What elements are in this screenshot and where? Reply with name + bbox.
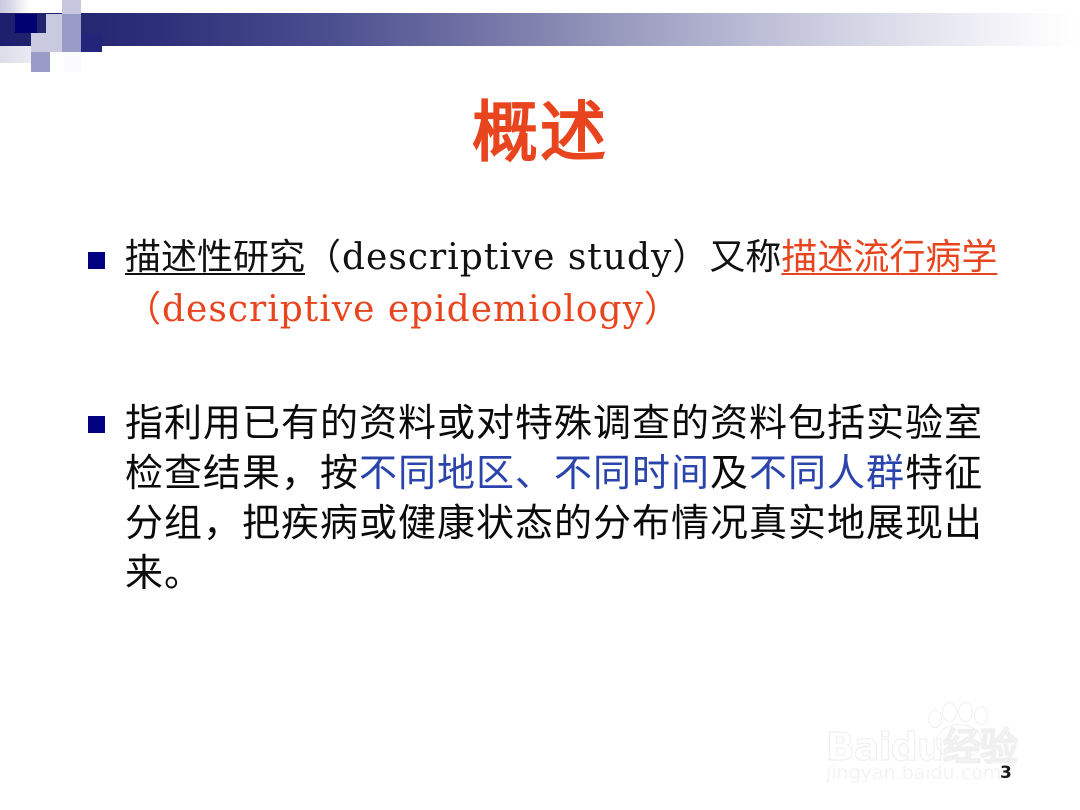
- paw-print-icon: [922, 702, 998, 758]
- decoration-block-lavender-row-1: [31, 33, 62, 52]
- watermark-url: jingyan.baidu.com: [826, 762, 1001, 784]
- decoration-block-white-bottom: [50, 52, 64, 72]
- list-item-text: 描述性研究（descriptive study）又称描述流行病学（descrip…: [125, 232, 1018, 336]
- square-bullet-icon: [88, 416, 105, 433]
- decoration-block-navy-row-3: [81, 33, 102, 52]
- decoration-block-offwhite-bottom: [64, 52, 82, 72]
- page-number: 3: [1000, 763, 1012, 783]
- decoration-block-lavender-top: [62, 0, 81, 14]
- decoration-block-navy-small: [15, 14, 37, 33]
- baidu-jingyan-watermark: Baidu经验 jingyan.baidu.com: [818, 700, 1048, 792]
- bullet-2-segment-2: 不同地区、不同时间: [359, 451, 710, 495]
- bullet-1-segment-1: 描述性研究: [125, 237, 305, 278]
- slide-body: 描述性研究（descriptive study）又称描述流行病学（descrip…: [88, 232, 1018, 598]
- decoration-block-lavender-row-2: [62, 33, 81, 52]
- list-item: 指利用已有的资料或对特殊调查的资料包括实验室检查结果，按不同地区、不同时间及不同…: [88, 398, 1018, 598]
- list-item: 描述性研究（descriptive study）又称描述流行病学（descrip…: [88, 232, 1018, 336]
- slide-header-decoration: [0, 0, 1080, 72]
- square-bullet-icon: [88, 252, 105, 269]
- bullet-2-segment-3: 及: [710, 451, 749, 495]
- bullet-1-segment-2: （descriptive study）: [305, 237, 709, 278]
- decoration-block-lavender-top-b: [62, 14, 81, 33]
- header-gradient-bar: [0, 13, 1080, 46]
- page-title: 概述: [0, 96, 1080, 169]
- bullet-1-segment-3: 又称: [709, 237, 781, 278]
- bullet-2-segment-4: 不同人群: [749, 451, 905, 495]
- list-item-text: 指利用已有的资料或对特殊调查的资料包括实验室检查结果，按不同地区、不同时间及不同…: [125, 398, 1018, 598]
- watermark-wordmark: Baidu经验: [826, 716, 1017, 771]
- bullet-1-segment-5: （descriptive epidemiology）: [125, 289, 681, 330]
- bullet-1-segment-4: 描述流行病学: [781, 237, 997, 278]
- decoration-block-lavender-bottom: [31, 52, 50, 72]
- decoration-block-lavender-mid: [46, 14, 62, 33]
